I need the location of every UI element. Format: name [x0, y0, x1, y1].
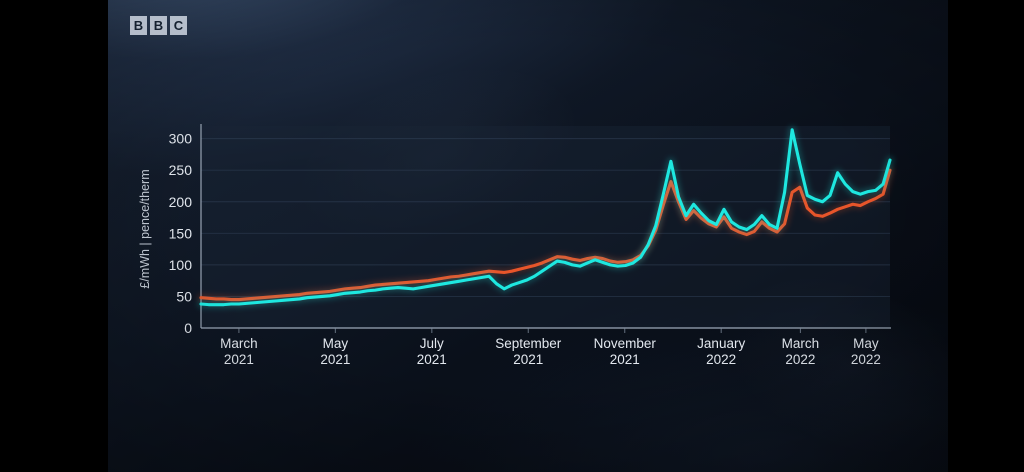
chart-svg: 050100150200250300March2021May2021July20… — [108, 0, 948, 472]
x-axis-tick-label-month: July — [420, 336, 444, 351]
y-axis-tick-label: 300 — [169, 131, 193, 147]
x-axis-tick-label-year: 2021 — [610, 352, 640, 367]
x-axis-tick-label-month: May — [853, 336, 879, 351]
y-axis-tick-label: 0 — [184, 320, 192, 336]
x-axis-tick-label-year: 2022 — [706, 352, 736, 367]
x-axis-tick-label-month: January — [697, 336, 745, 351]
bbc-logo-letter-3: C — [170, 16, 187, 35]
y-axis-tick-label: 250 — [169, 162, 193, 178]
bbc-logo-letter-1: B — [130, 16, 147, 35]
x-axis-tick-label-month: March — [220, 336, 258, 351]
x-axis-tick-label-year: 2021 — [513, 352, 543, 367]
x-axis-tick-label-year: 2022 — [851, 352, 881, 367]
x-axis-tick-label-year: 2021 — [224, 352, 254, 367]
y-axis-tick-label: 200 — [169, 194, 193, 210]
x-axis-tick-label-month: May — [323, 336, 349, 351]
screen-root: B B C 050100150200250300March2021May2021… — [0, 0, 1024, 472]
video-frame: B B C 050100150200250300March2021May2021… — [108, 0, 948, 472]
y-axis-tick-label: 50 — [176, 288, 192, 304]
gas-price-line-chart: 050100150200250300March2021May2021July20… — [108, 0, 948, 472]
pillarbox-left — [0, 0, 108, 472]
y-axis-tick-label: 150 — [169, 225, 193, 241]
x-axis-tick-label-year: 2021 — [417, 352, 447, 367]
x-axis-tick-label-month: March — [782, 336, 820, 351]
x-axis-tick-label-year: 2022 — [785, 352, 815, 367]
bbc-logo: B B C — [130, 16, 187, 35]
x-axis-tick-label-month: September — [495, 336, 562, 351]
y-axis-tick-label: 100 — [169, 257, 193, 273]
x-axis-tick-label-month: November — [594, 336, 657, 351]
pillarbox-right — [948, 0, 1024, 472]
bbc-logo-letter-2: B — [150, 16, 167, 35]
x-axis-tick-label-year: 2021 — [320, 352, 350, 367]
y-axis-title: £/mWh | pence/therm — [138, 169, 152, 288]
